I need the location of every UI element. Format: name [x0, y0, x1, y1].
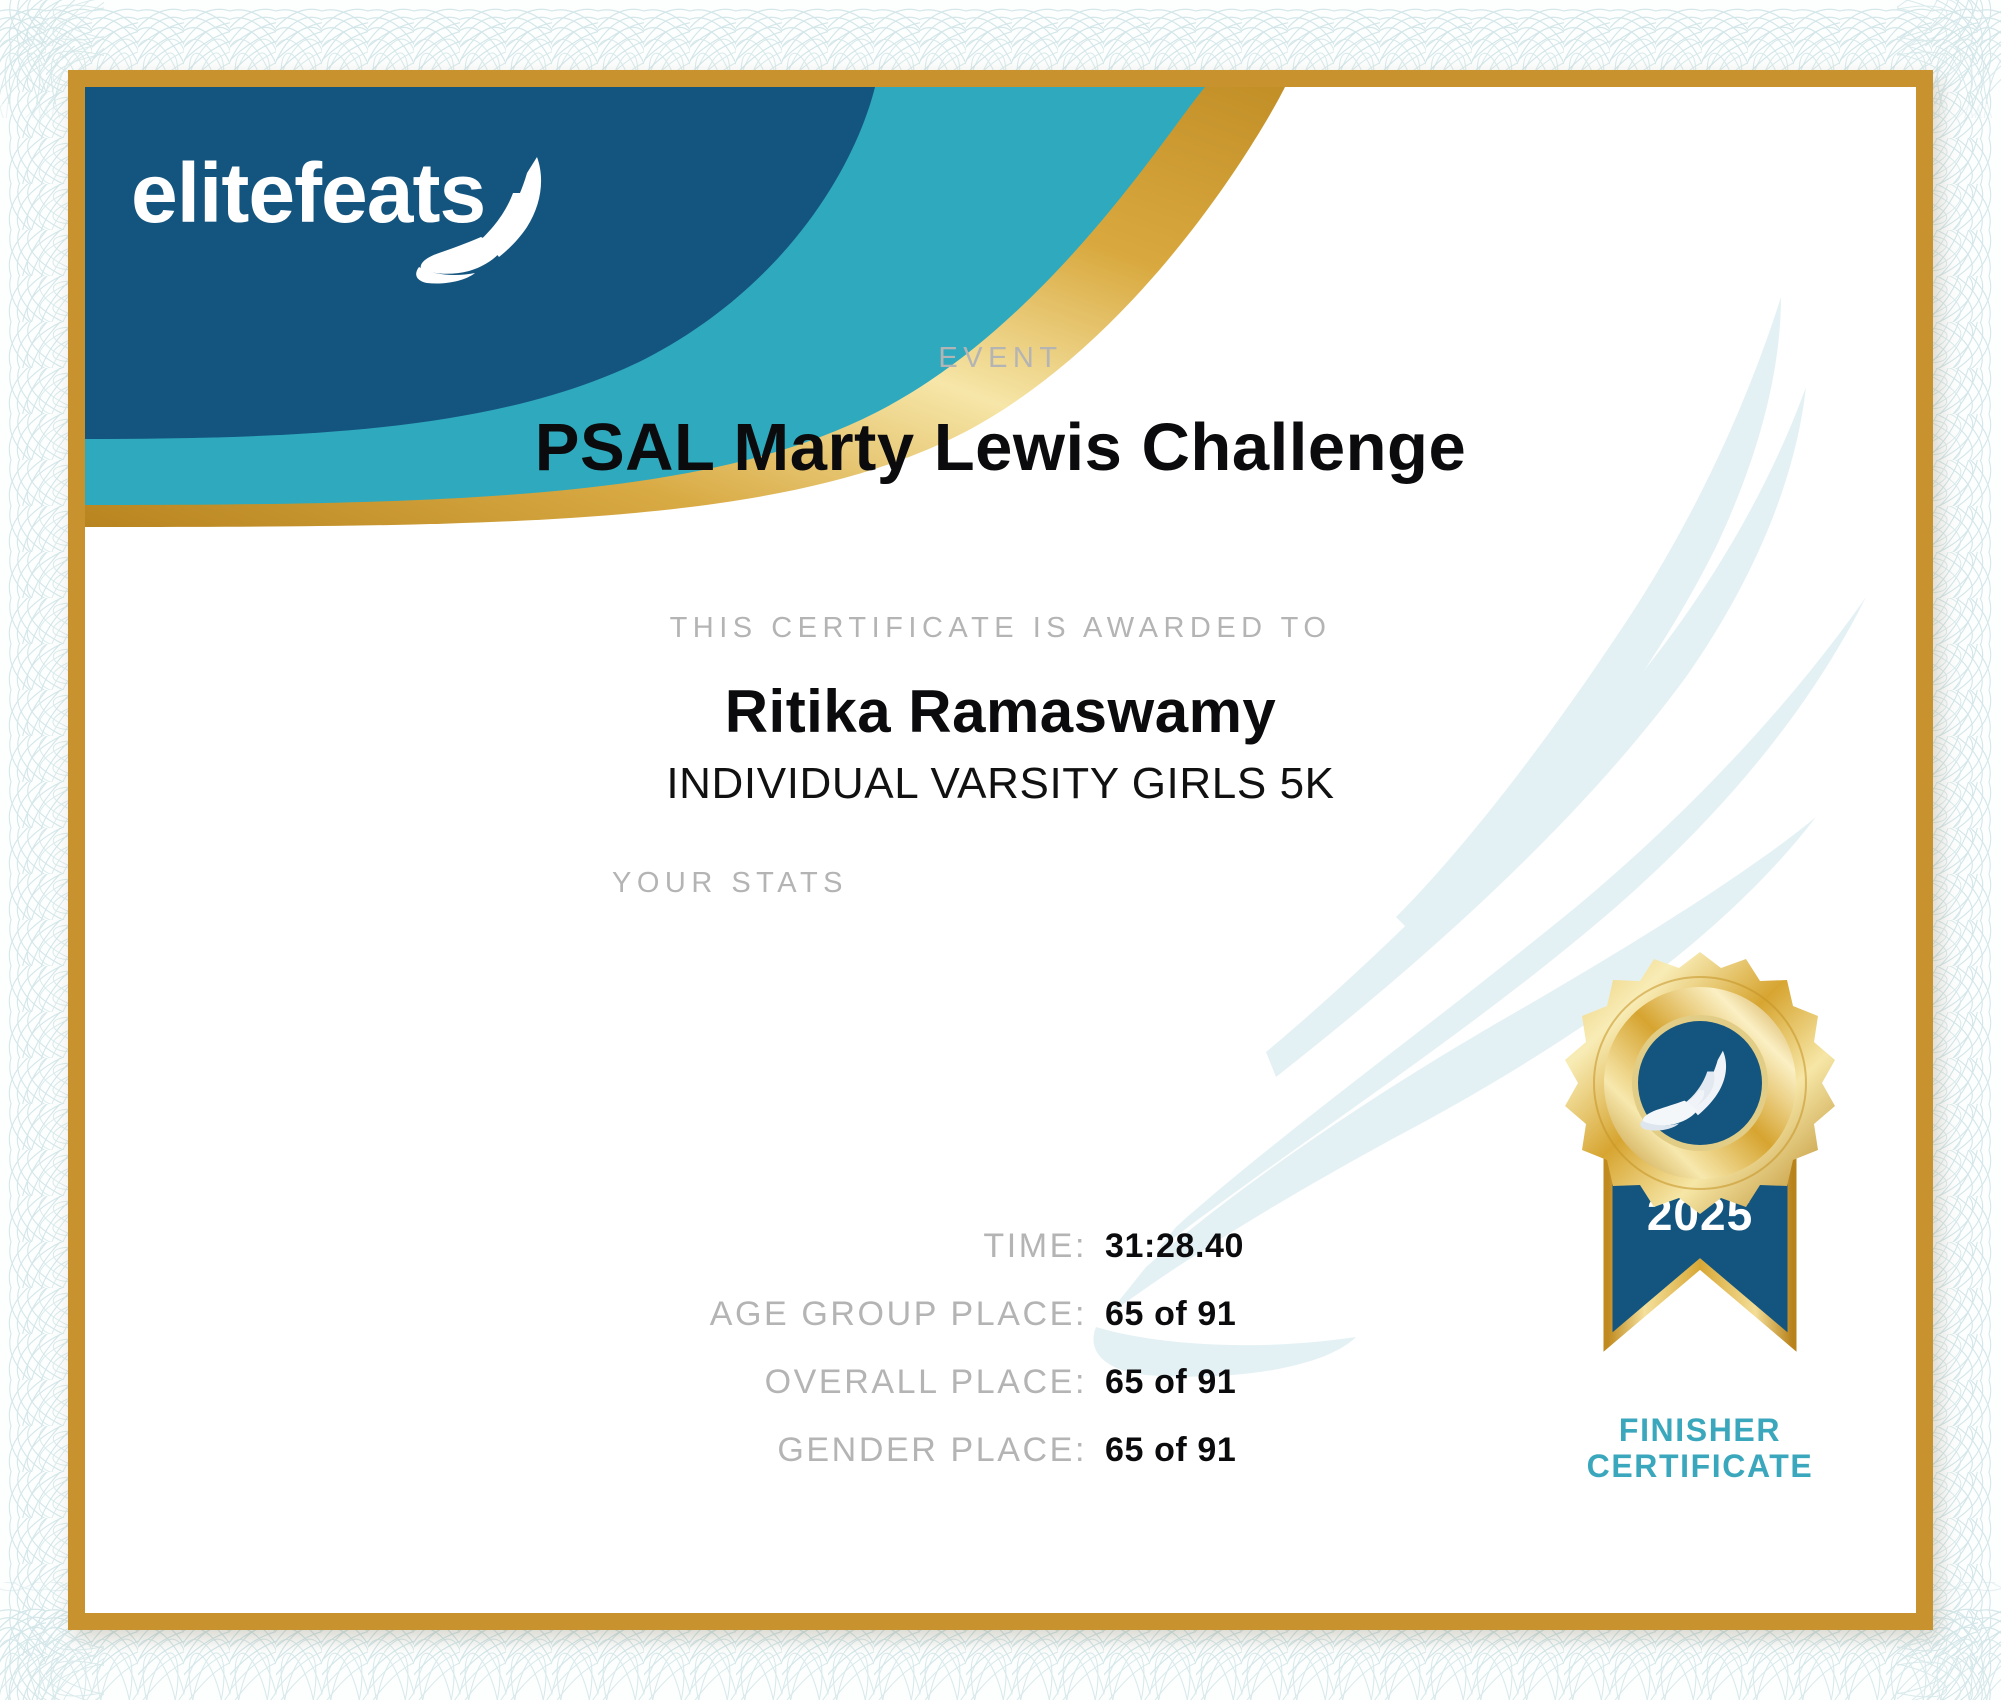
stats-list: TIME: 31:28.40 AGE GROUP PLACE: 65 of 91… [85, 1227, 1270, 1499]
stat-label: GENDER PLACE: [777, 1431, 1087, 1470]
medal-caption-line1: FINISHER [1530, 1412, 1870, 1448]
awarded-label-row: THIS CERTIFICATE IS AWARDED TO [85, 612, 1916, 645]
recipient-name-row: Ritika Ramaswamy [85, 677, 1916, 746]
stat-label: TIME: [983, 1227, 1087, 1266]
certificate-body: elitefeats EVENT PSAL Marty Lewis Challe… [85, 87, 1916, 1613]
certificate-frame: elitefeats EVENT PSAL Marty Lewis Challe… [68, 70, 1933, 1630]
stat-row: AGE GROUP PLACE: 65 of 91 [85, 1295, 1270, 1334]
stat-label: AGE GROUP PLACE: [710, 1295, 1087, 1334]
stats-label: YOUR STATS [612, 867, 848, 899]
event-name: PSAL Marty Lewis Challenge [535, 410, 1466, 485]
awarded-label: THIS CERTIFICATE IS AWARDED TO [670, 612, 1332, 644]
stat-value: 65 of 91 [1105, 1295, 1270, 1334]
stats-label-row: YOUR STATS [85, 867, 1375, 900]
event-label-row: EVENT [85, 342, 1916, 375]
stat-value: 65 of 91 [1105, 1363, 1270, 1402]
medal-caption: FINISHER CERTIFICATE [1530, 1412, 1870, 1485]
brand-logo-text: elitefeats [131, 146, 485, 240]
division-row: INDIVIDUAL VARSITY GIRLS 5K [85, 759, 1916, 809]
event-label: EVENT [938, 342, 1062, 374]
stat-value: 31:28.40 [1105, 1227, 1270, 1266]
event-name-row: PSAL Marty Lewis Challenge [85, 409, 1916, 486]
stat-label: OVERALL PLACE: [765, 1363, 1087, 1402]
recipient-name: Ritika Ramaswamy [725, 678, 1277, 745]
stat-row: OVERALL PLACE: 65 of 91 [85, 1363, 1270, 1402]
finisher-medal-badge: 2025 [1550, 942, 1850, 1422]
stat-value: 65 of 91 [1105, 1431, 1270, 1470]
stat-row: TIME: 31:28.40 [85, 1227, 1270, 1266]
medal-caption-line2: CERTIFICATE [1530, 1448, 1870, 1484]
division-name: INDIVIDUAL VARSITY GIRLS 5K [666, 759, 1334, 808]
certificate-page: elitefeats EVENT PSAL Marty Lewis Challe… [0, 0, 2001, 1700]
stat-row: GENDER PLACE: 65 of 91 [85, 1431, 1270, 1470]
